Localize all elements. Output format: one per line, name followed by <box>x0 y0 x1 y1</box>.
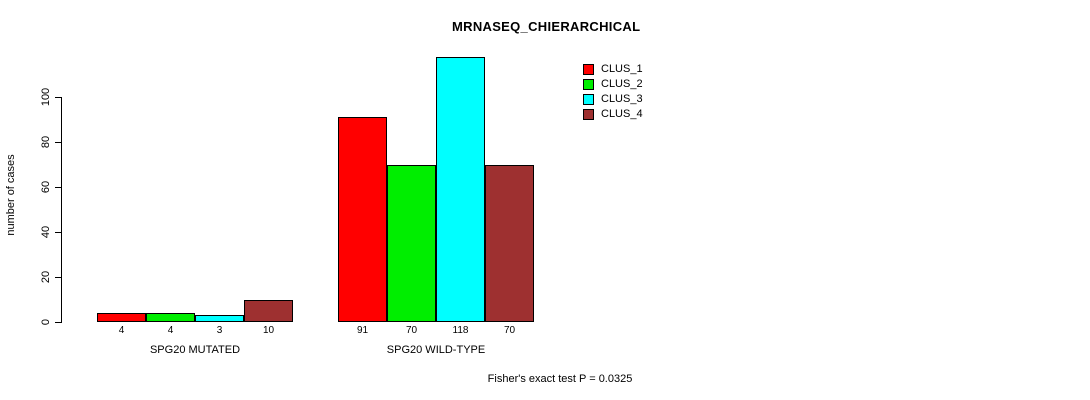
bar <box>338 117 387 322</box>
group-label: SPG20 WILD-TYPE <box>387 344 485 356</box>
fisher-test-annotation: Fisher's exact test P = 0.0325 <box>488 373 633 385</box>
y-axis-tick <box>55 322 61 323</box>
barplot-figure: MRNASEQ_CHIERARCHICAL 020406080100 numbe… <box>0 0 1090 400</box>
y-axis-tick-label: 60 <box>40 181 52 193</box>
bar <box>195 315 244 322</box>
y-axis-tick-label: 40 <box>40 226 52 238</box>
legend-item: CLUS_3 <box>583 92 643 107</box>
y-axis-tick-label: 0 <box>40 319 52 325</box>
bar <box>485 165 534 323</box>
y-axis-tick <box>55 277 61 278</box>
legend-color-swatch <box>583 64 594 75</box>
bar-value-label: 10 <box>263 325 274 336</box>
y-axis-line <box>61 97 62 323</box>
legend-item: CLUS_4 <box>583 107 643 122</box>
y-axis-tick-label: 20 <box>40 271 52 283</box>
legend-color-swatch <box>583 109 594 120</box>
y-axis-tick <box>55 142 61 143</box>
bar-value-label: 70 <box>504 325 515 336</box>
chart-title: MRNASEQ_CHIERARCHICAL <box>452 19 640 34</box>
y-axis-tick <box>55 97 61 98</box>
y-axis-tick-label: 80 <box>40 136 52 148</box>
bar <box>97 313 146 322</box>
y-axis-tick <box>55 187 61 188</box>
legend-item-label: CLUS_3 <box>601 94 643 105</box>
bar-value-label: 118 <box>453 325 469 336</box>
bar <box>387 165 436 323</box>
legend-color-swatch <box>583 79 594 90</box>
bar-value-label: 4 <box>119 325 125 336</box>
bar <box>244 300 293 323</box>
group-label: SPG20 MUTATED <box>150 344 240 356</box>
y-axis-tick-label: 100 <box>40 88 52 106</box>
bar <box>146 313 195 322</box>
y-axis-tick <box>55 232 61 233</box>
bar-value-label: 70 <box>406 325 417 336</box>
legend-item-label: CLUS_2 <box>601 79 643 90</box>
bar-value-label: 4 <box>168 325 174 336</box>
bar-value-label: 3 <box>217 325 223 336</box>
legend-item: CLUS_2 <box>583 77 643 92</box>
legend-item-label: CLUS_1 <box>601 64 643 75</box>
bar-value-label: 91 <box>357 325 368 336</box>
legend-item: CLUS_1 <box>583 62 643 77</box>
y-axis-title: number of cases <box>5 154 17 235</box>
legend-color-swatch <box>583 94 594 105</box>
legend: CLUS_1CLUS_2CLUS_3CLUS_4 <box>583 62 643 122</box>
bar <box>436 57 485 323</box>
legend-item-label: CLUS_4 <box>601 109 643 120</box>
